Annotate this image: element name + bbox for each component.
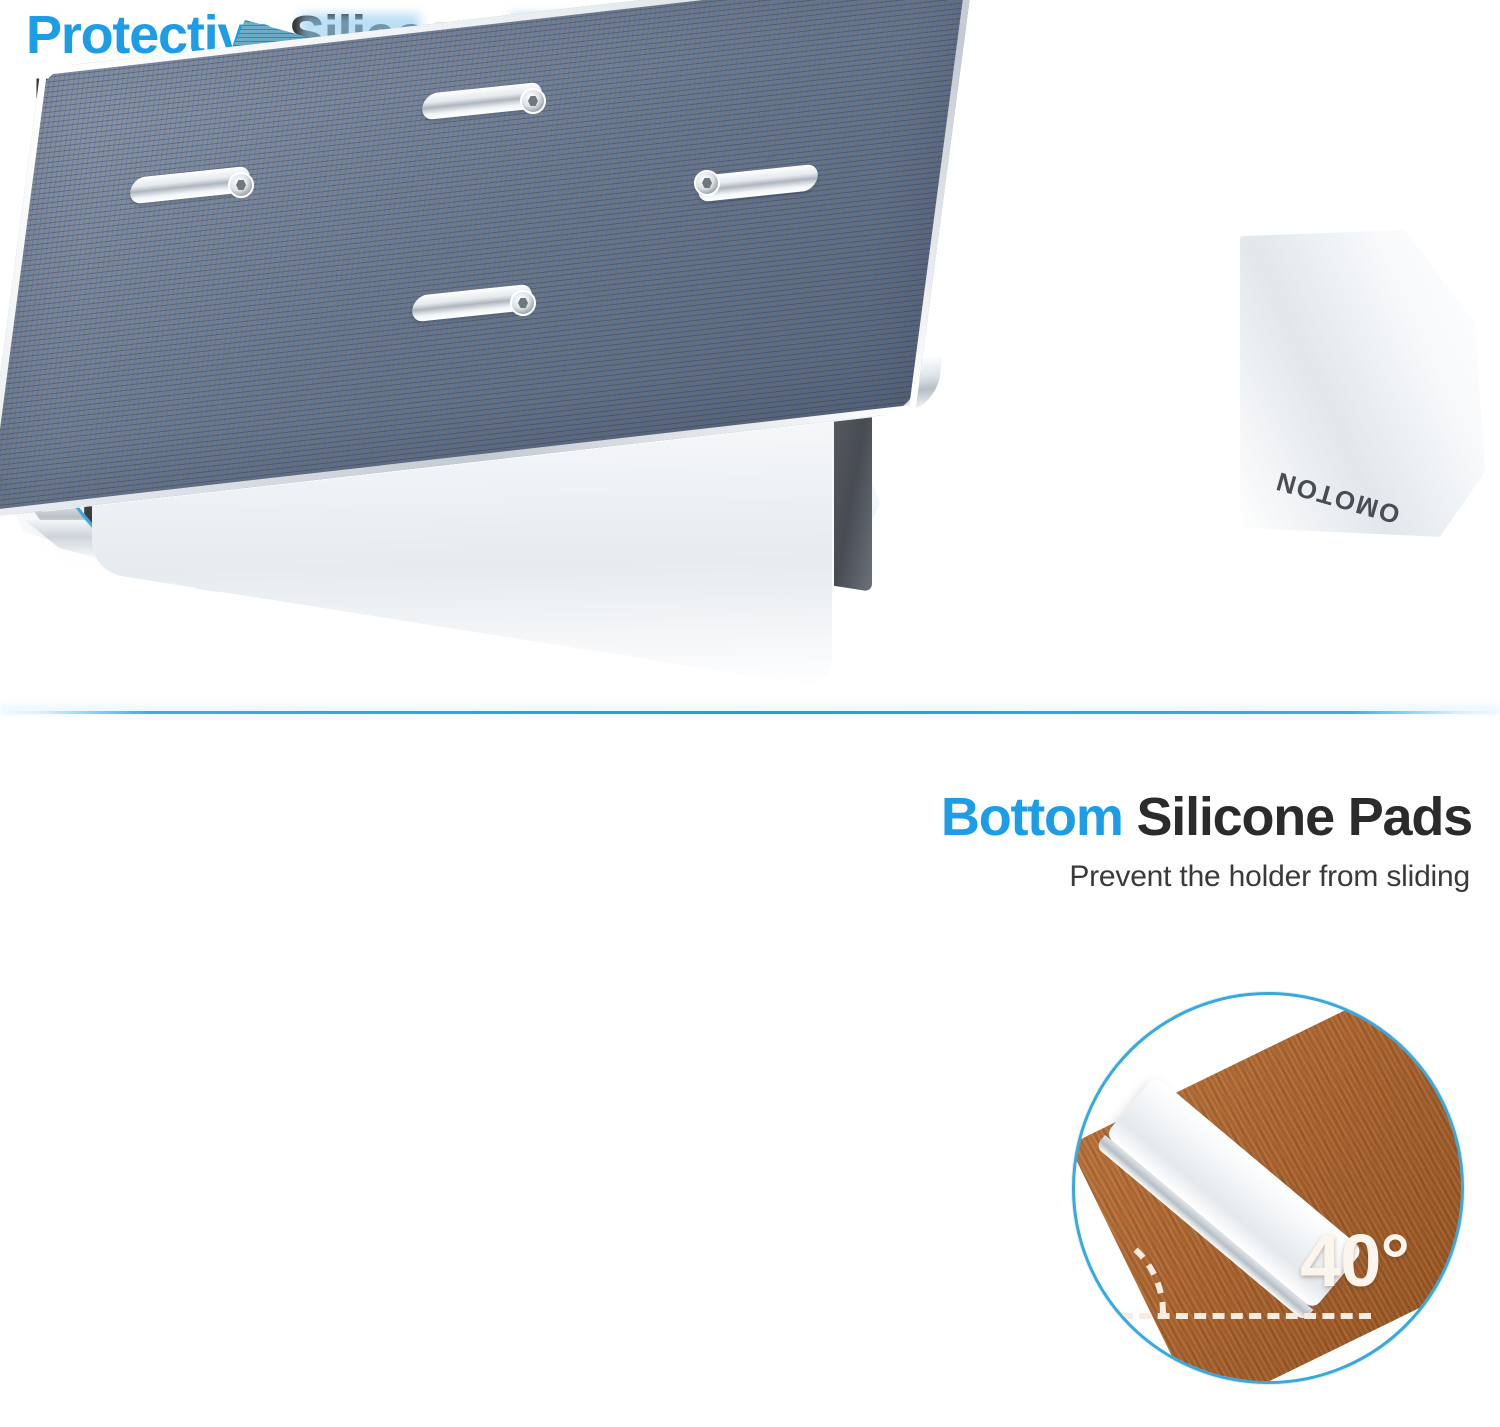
adjust-slot-4: [412, 290, 532, 316]
angle-label: 40°: [1300, 1218, 1409, 1303]
slot-screw-3: [694, 170, 720, 196]
angle-closeup-inset: 40°: [1072, 992, 1464, 1384]
product-feature-graphic: Protective Silicone Pads Protect your de…: [0, 0, 1500, 1427]
section-divider: [0, 711, 1500, 714]
bottom-heading: Bottom Silicone Pads: [941, 790, 1472, 844]
adjust-slot-2: [130, 172, 250, 198]
stand-underside-hero-image: [0, 640, 980, 1259]
slot-screw-4: [510, 290, 536, 316]
angle-arc-dashed: [1133, 1223, 1229, 1319]
slot-screw-1: [520, 88, 546, 114]
bottom-heading-accent: Bottom: [941, 787, 1123, 847]
stand-wing-right: OMOTON: [1240, 230, 1490, 540]
bottom-subheading: Prevent the holder from sliding: [1069, 862, 1470, 892]
slot-screw-2: [228, 172, 254, 198]
adjust-slot-1: [422, 88, 542, 114]
brand-logo: OMOTON: [1272, 465, 1404, 530]
adjust-slot-3: [698, 170, 818, 196]
bottom-heading-rest: Silicone Pads: [1123, 787, 1472, 847]
